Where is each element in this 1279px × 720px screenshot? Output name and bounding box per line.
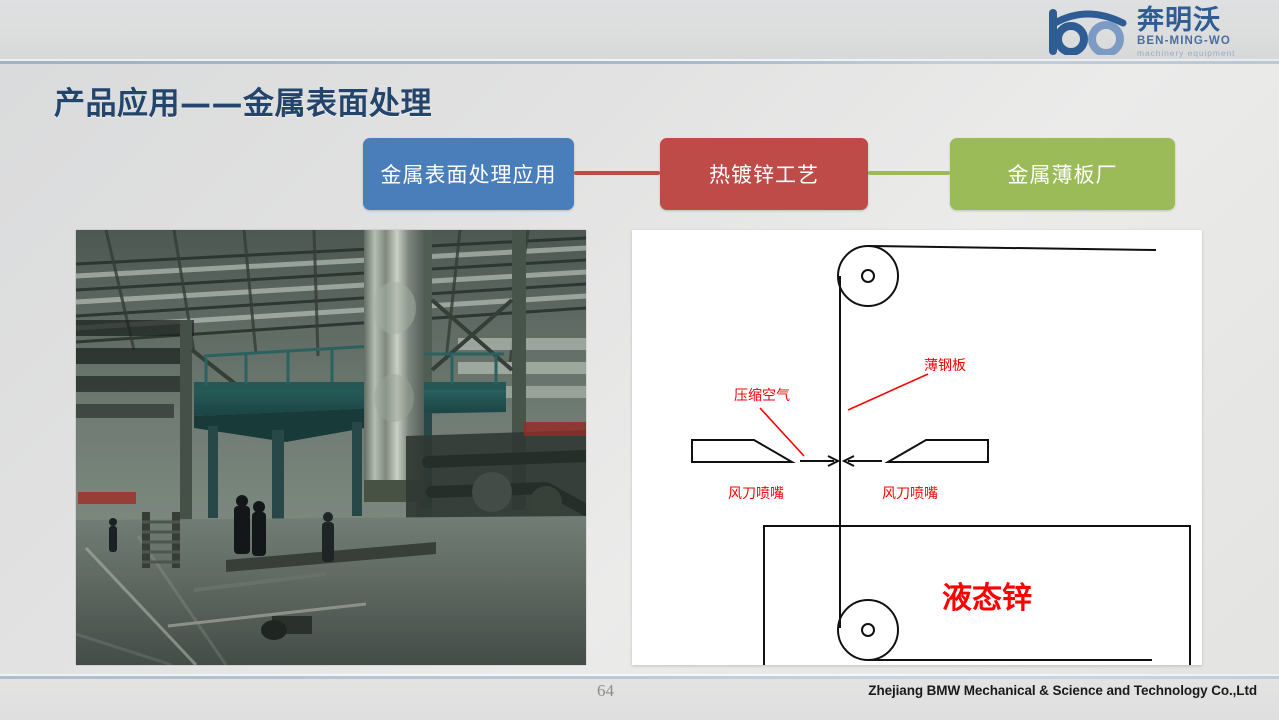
label-air-knife-right: 风刀喷嘴 xyxy=(882,486,938,502)
company-logo: 奔明沃 BEN-MING-WO machinery equipment xyxy=(1049,4,1271,60)
galvanizing-plant-photo xyxy=(76,230,586,665)
bo-monogram-icon xyxy=(1049,9,1131,55)
air-knife-galvanizing-diagram: 压缩空气 薄钢板 风刀喷嘴 风刀喷嘴 液态锌 xyxy=(632,230,1202,665)
logo-chinese-name: 奔明沃 xyxy=(1137,7,1235,34)
label-liquid-zinc: 液态锌 xyxy=(942,581,1032,616)
flow-box-process[interactable]: 热镀锌工艺 xyxy=(660,138,868,210)
page-number: 64 xyxy=(597,681,614,701)
logo-tagline: machinery equipment xyxy=(1137,49,1235,58)
page-title: 产品应用——金属表面处理 xyxy=(54,78,432,123)
label-steel-sheet: 薄钢板 xyxy=(924,358,966,374)
process-flow-chart: 金属表面处理应用 热镀锌工艺 金属薄板厂 xyxy=(363,138,1175,210)
footer-company-name: Zhejiang BMW Mechanical & Science and Te… xyxy=(868,683,1257,698)
flow-connector-2 xyxy=(868,171,950,175)
flow-box-application[interactable]: 金属表面处理应用 xyxy=(363,138,574,210)
label-air-knife-left: 风刀喷嘴 xyxy=(728,486,784,502)
flow-connector-1 xyxy=(574,171,660,175)
header-divider xyxy=(0,61,1279,64)
logo-text-block: 奔明沃 BEN-MING-WO machinery equipment xyxy=(1137,7,1235,58)
flow-box-customer[interactable]: 金属薄板厂 xyxy=(950,138,1175,210)
label-compressed-air: 压缩空气 xyxy=(734,388,790,404)
logo-english-name: BEN-MING-WO xyxy=(1137,36,1235,48)
